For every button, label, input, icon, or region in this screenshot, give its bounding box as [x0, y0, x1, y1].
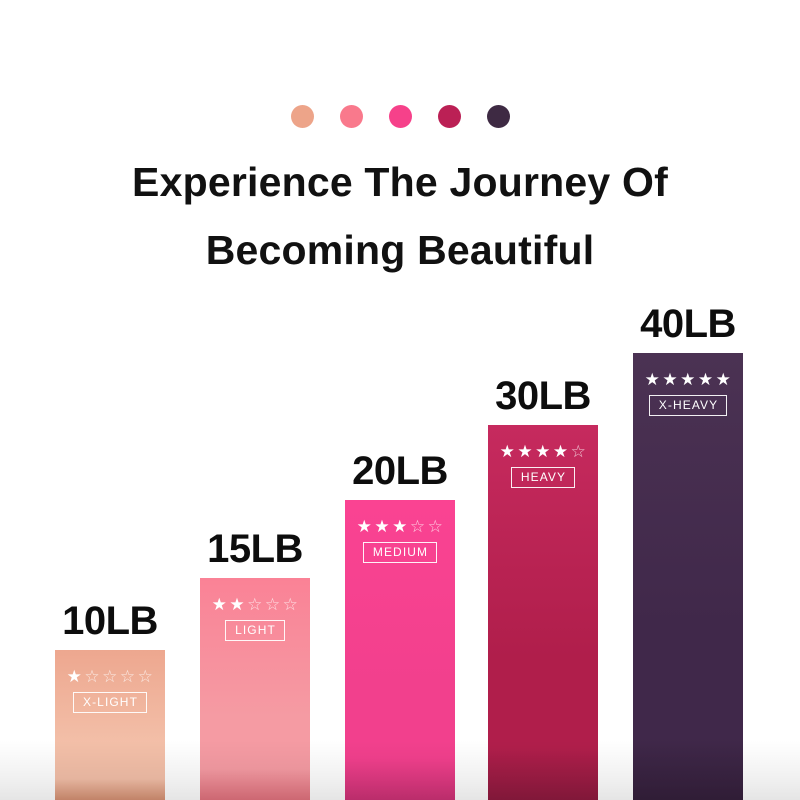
star-filled-icon: ★ — [535, 443, 551, 460]
star-empty-icon: ☆ — [265, 596, 281, 613]
star-empty-icon: ☆ — [102, 668, 118, 685]
star-filled-icon: ★ — [229, 596, 245, 613]
bar-value-label: 20LB — [352, 448, 448, 500]
star-filled-icon: ★ — [662, 371, 678, 388]
star-filled-icon: ★ — [500, 443, 516, 460]
level-tag: X-LIGHT — [73, 692, 147, 713]
bar-value-label: 15LB — [207, 526, 303, 578]
bar-badge: ★★★★☆HEAVY — [488, 443, 598, 488]
bar-group-x-heavy[interactable]: 40LB★★★★★X-HEAVY — [633, 353, 743, 800]
star-filled-icon: ★ — [357, 518, 373, 535]
rating-stars: ★☆☆☆☆ — [67, 668, 154, 685]
rating-stars: ★★☆☆☆ — [212, 596, 299, 613]
star-filled-icon: ★ — [392, 518, 408, 535]
bar-value-label: 30LB — [495, 373, 591, 425]
level-tag: X-HEAVY — [649, 395, 728, 416]
bar-rect[interactable]: ★★★★★X-HEAVY — [633, 353, 743, 800]
level-tag: MEDIUM — [363, 542, 437, 563]
star-filled-icon: ★ — [374, 518, 390, 535]
bar-value-label: 40LB — [640, 301, 736, 353]
star-filled-icon: ★ — [716, 371, 732, 388]
star-empty-icon: ☆ — [120, 668, 136, 685]
level-tag: LIGHT — [225, 620, 285, 641]
star-filled-icon: ★ — [645, 371, 661, 388]
star-empty-icon: ☆ — [84, 668, 100, 685]
star-empty-icon: ☆ — [428, 518, 444, 535]
bar-rect[interactable]: ★★☆☆☆LIGHT — [200, 578, 310, 800]
star-filled-icon: ★ — [680, 371, 696, 388]
bar-fill — [633, 353, 743, 800]
resistance-bar-chart: 10LB★☆☆☆☆X-LIGHT15LB★★☆☆☆LIGHT20LB★★★☆☆M… — [0, 0, 800, 800]
bar-badge: ★☆☆☆☆X-LIGHT — [55, 668, 165, 713]
bar-rect[interactable]: ★☆☆☆☆X-LIGHT — [55, 650, 165, 800]
star-filled-icon: ★ — [698, 371, 714, 388]
star-filled-icon: ★ — [553, 443, 569, 460]
infographic-canvas: Experience The Journey Of Becoming Beaut… — [0, 0, 800, 800]
star-filled-icon: ★ — [517, 443, 533, 460]
bar-badge: ★★★★★X-HEAVY — [633, 371, 743, 416]
star-empty-icon: ☆ — [247, 596, 263, 613]
rating-stars: ★★★★★ — [645, 371, 732, 388]
star-filled-icon: ★ — [212, 596, 228, 613]
bar-value-label: 10LB — [62, 598, 158, 650]
star-filled-icon: ★ — [67, 668, 83, 685]
bar-rect[interactable]: ★★★★☆HEAVY — [488, 425, 598, 800]
rating-stars: ★★★☆☆ — [357, 518, 444, 535]
bar-badge: ★★★☆☆MEDIUM — [345, 518, 455, 563]
bar-group-light[interactable]: 15LB★★☆☆☆LIGHT — [200, 578, 310, 800]
star-empty-icon: ☆ — [571, 443, 587, 460]
bar-badge: ★★☆☆☆LIGHT — [200, 596, 310, 641]
rating-stars: ★★★★☆ — [500, 443, 587, 460]
level-tag: HEAVY — [511, 467, 575, 488]
bar-group-medium[interactable]: 20LB★★★☆☆MEDIUM — [345, 500, 455, 800]
star-empty-icon: ☆ — [410, 518, 426, 535]
bar-rect[interactable]: ★★★☆☆MEDIUM — [345, 500, 455, 800]
bar-group-x-light[interactable]: 10LB★☆☆☆☆X-LIGHT — [55, 650, 165, 800]
bar-group-heavy[interactable]: 30LB★★★★☆HEAVY — [488, 425, 598, 800]
star-empty-icon: ☆ — [138, 668, 154, 685]
star-empty-icon: ☆ — [283, 596, 299, 613]
